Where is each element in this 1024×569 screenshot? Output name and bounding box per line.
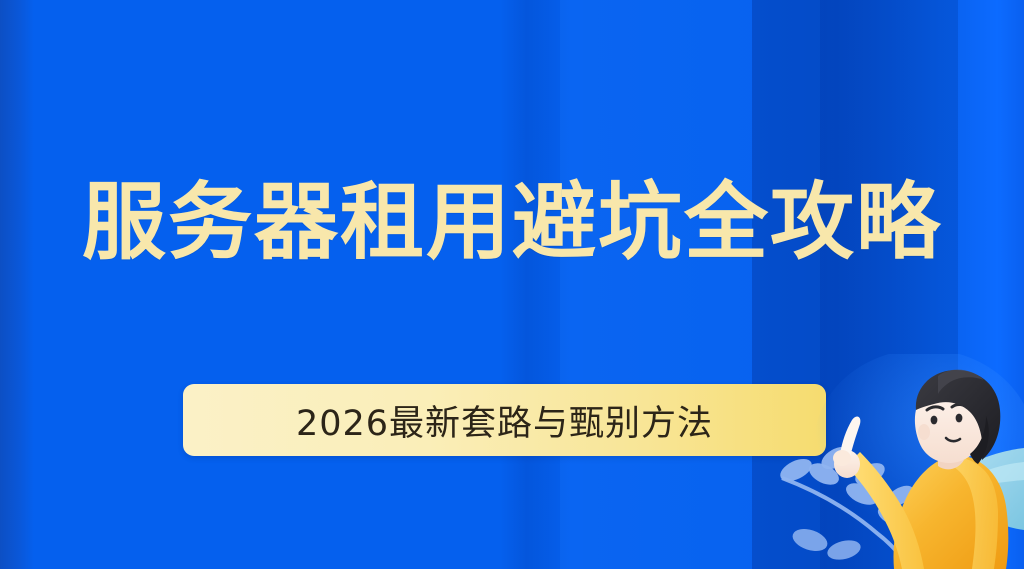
page-title: 服务器租用避坑全攻略 xyxy=(0,178,1024,266)
promo-banner-canvas: 服务器租用避坑全攻略 2026最新套路与甄别方法 xyxy=(0,0,1024,569)
background-band-far-right xyxy=(958,0,1024,569)
background-band-sheen xyxy=(820,0,940,569)
subtitle-badge: 2026最新套路与甄别方法 xyxy=(183,384,826,456)
background-band-left xyxy=(0,0,34,569)
subtitle-text: 2026最新套路与甄别方法 xyxy=(296,395,713,446)
background-band-center-light xyxy=(560,0,760,569)
